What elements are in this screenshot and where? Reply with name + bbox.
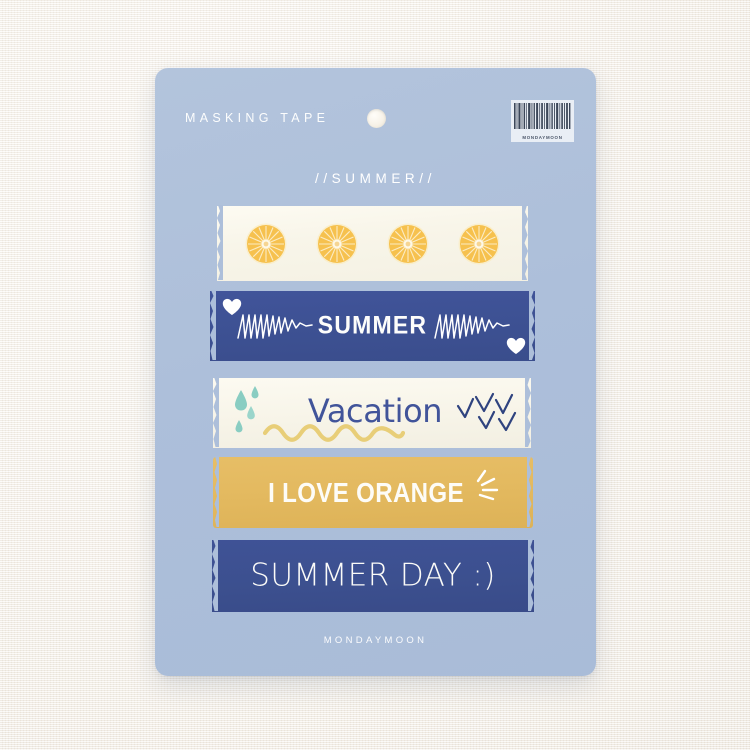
tape-strip-vacation[interactable]: Vacation [213,378,531,448]
product-card: MASKING TAPE [155,68,596,676]
tape-strip-summer-day[interactable]: SUMMER DAY :) [212,540,534,612]
tape-surface: SUMMER DAY :) [212,540,534,612]
card-header: MASKING TAPE [155,68,596,140]
sparkle-icon [469,469,503,501]
orange-slice-row [217,206,528,281]
tape-label-i-love-orange: I LOVE ORANGE [222,477,509,509]
tape-strip-i-love-orange[interactable]: I LOVE ORANGE [213,457,533,528]
barcode-bars-icon [514,103,571,129]
heart-icon [506,337,526,355]
series-title: //SUMMER// [155,171,596,186]
scribble-icon [433,306,511,346]
tape-surface: I LOVE ORANGE [213,457,533,528]
barcode-caption: MONDAYMOON [522,135,562,141]
barcode: MONDAYMOON [511,100,574,142]
bird-marks-icon [455,389,525,437]
tape-surface: Vacation [213,378,531,448]
tape-strip-oranges[interactable] [217,206,528,281]
orange-slice-icon [386,222,430,266]
orange-slice-icon [457,222,501,266]
wavy-line-icon [263,422,405,442]
masking-tape-eyebrow: MASKING TAPE [185,111,329,125]
hang-hole-icon [367,109,386,128]
orange-slice-icon [244,222,288,266]
orange-slice-icon [315,222,359,266]
tape-strip-summer[interactable]: SUMMER [210,291,535,361]
footer-brand: MONDAYMOON [155,635,596,646]
tape-surface [217,206,528,281]
tape-label-summer-day: SUMMER DAY :) [212,557,534,593]
tape-surface: SUMMER [210,291,535,361]
